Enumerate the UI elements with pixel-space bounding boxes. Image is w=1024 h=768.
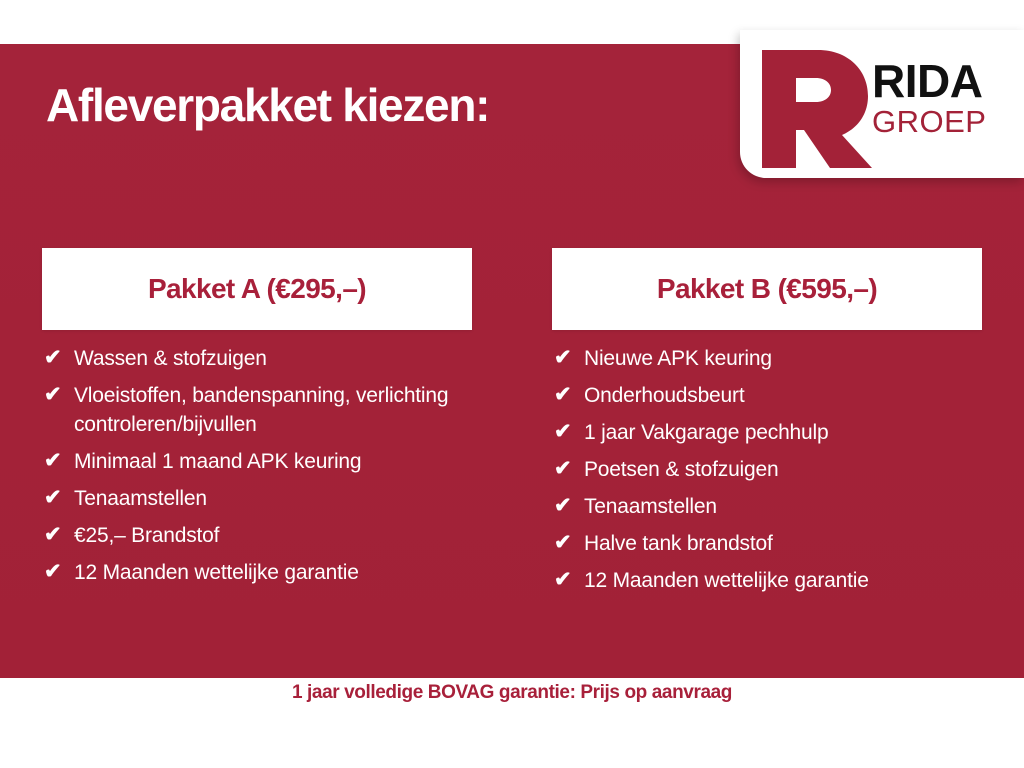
list-item-label: Halve tank brandstof [584,529,773,558]
list-item-label: Tenaamstellen [74,484,207,513]
logo-inner: RIDA GROEP [740,30,1024,178]
list-item: ✔Wassen & stofzuigen [42,344,502,373]
list-item: ✔Nieuwe APK keuring [552,344,1012,373]
list-item: ✔Tenaamstellen [552,492,1012,521]
check-icon: ✔ [42,344,74,372]
check-icon: ✔ [42,381,74,409]
list-item: ✔Minimaal 1 maand APK keuring [42,447,502,476]
check-icon: ✔ [42,521,74,549]
rida-r-monogram-icon [756,44,872,168]
slide-canvas: Afleverpakket kiezen: RIDA GROEP Pakket … [0,0,1024,768]
check-icon: ✔ [552,455,584,483]
list-item-label: Wassen & stofzuigen [74,344,267,373]
list-item-label: €25,– Brandstof [74,521,219,550]
list-item-label: 1 jaar Vakgarage pechhulp [584,418,828,447]
list-item-label: Onderhoudsbeurt [584,381,744,410]
logo-name: RIDA [872,60,1022,104]
package-a-title: Pakket A (€295,–) [148,273,366,305]
check-icon: ✔ [552,566,584,594]
list-item: ✔Halve tank brandstof [552,529,1012,558]
list-item-label: Minimaal 1 maand APK keuring [74,447,361,476]
check-icon: ✔ [552,529,584,557]
list-item-label: 12 Maanden wettelijke garantie [74,558,359,587]
list-item: ✔€25,– Brandstof [42,521,502,550]
check-icon: ✔ [552,418,584,446]
list-item: ✔12 Maanden wettelijke garantie [42,558,502,587]
footer-note: 1 jaar volledige BOVAG garantie: Prijs o… [0,682,1024,704]
logo-subname: GROEP [872,106,1022,139]
list-item: ✔Onderhoudsbeurt [552,381,1012,410]
list-item: ✔Poetsen & stofzuigen [552,455,1012,484]
page-title: Afleverpakket kiezen: [46,78,489,132]
check-icon: ✔ [552,492,584,520]
package-b-header-card[interactable]: Pakket B (€595,–) [552,248,982,330]
package-b-title: Pakket B (€595,–) [657,273,877,305]
check-icon: ✔ [42,484,74,512]
list-item: ✔1 jaar Vakgarage pechhulp [552,418,1012,447]
check-icon: ✔ [42,447,74,475]
brand-logo: RIDA GROEP [740,30,1024,178]
list-item: ✔Tenaamstellen [42,484,502,513]
package-a-feature-list: ✔Wassen & stofzuigen✔Vloeistoffen, bande… [42,344,502,595]
list-item-label: Nieuwe APK keuring [584,344,772,373]
list-item: ✔12 Maanden wettelijke garantie [552,566,1012,595]
list-item-label: Vloeistoffen, bandenspanning, verlichtin… [74,381,502,439]
list-item-label: 12 Maanden wettelijke garantie [584,566,869,595]
check-icon: ✔ [42,558,74,586]
package-b-feature-list: ✔Nieuwe APK keuring✔Onderhoudsbeurt✔1 ja… [552,344,1012,603]
logo-wordmark: RIDA GROEP [872,60,1022,138]
check-icon: ✔ [552,344,584,372]
check-icon: ✔ [552,381,584,409]
list-item: ✔Vloeistoffen, bandenspanning, verlichti… [42,381,502,439]
list-item-label: Tenaamstellen [584,492,717,521]
list-item-label: Poetsen & stofzuigen [584,455,778,484]
package-a-header-card[interactable]: Pakket A (€295,–) [42,248,472,330]
